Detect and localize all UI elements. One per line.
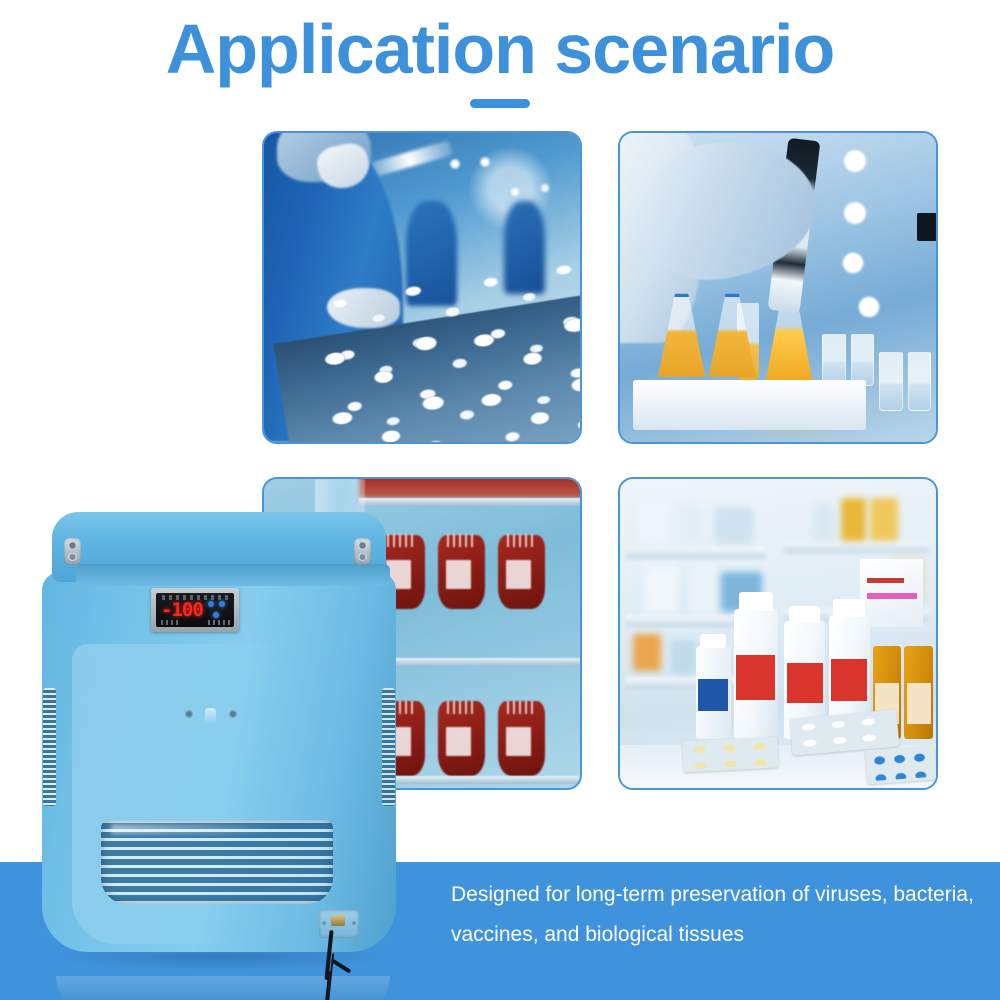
marketing-page: Application scenario xyxy=(0,0,1000,1000)
pharmacy-medicines-photo xyxy=(620,479,936,788)
side-vent-right xyxy=(382,688,395,806)
scenario-panel-pharmacy-medicines xyxy=(618,477,938,790)
front-ports xyxy=(185,708,239,726)
side-vent-left xyxy=(43,688,56,806)
page-title: Application scenario xyxy=(0,14,1000,84)
caption-text: Designed for long-term preservation of v… xyxy=(451,875,981,955)
led-indicator-2-icon xyxy=(219,601,225,607)
port-screw-right-icon xyxy=(229,710,237,718)
scenario-panel-pharmaceutical-manufacturing xyxy=(262,131,582,444)
power-port xyxy=(319,910,359,938)
temperature-display: -100 xyxy=(156,593,234,627)
ventilation-grille xyxy=(101,820,333,904)
pharmaceutical-manufacturing-photo xyxy=(264,133,580,442)
temperature-controller-panel[interactable]: -100 xyxy=(151,588,239,632)
title-underline-accent xyxy=(470,99,530,108)
led-indicator-1-icon xyxy=(208,601,214,607)
port-screw-left-icon xyxy=(185,710,193,718)
scenario-panel-laboratory-pipetting xyxy=(618,131,938,444)
latch-screw-left-icon xyxy=(64,538,81,565)
led-indicator-3-icon xyxy=(213,612,219,618)
controller-led-buttons[interactable] xyxy=(206,601,228,621)
freezer-lid xyxy=(52,512,386,582)
product-portable-ultra-low-temperature-freezer: -100 xyxy=(38,512,400,972)
latch-screw-right-icon xyxy=(354,538,371,565)
laboratory-pipetting-photo xyxy=(620,133,936,442)
temperature-value: -100 xyxy=(161,600,207,620)
